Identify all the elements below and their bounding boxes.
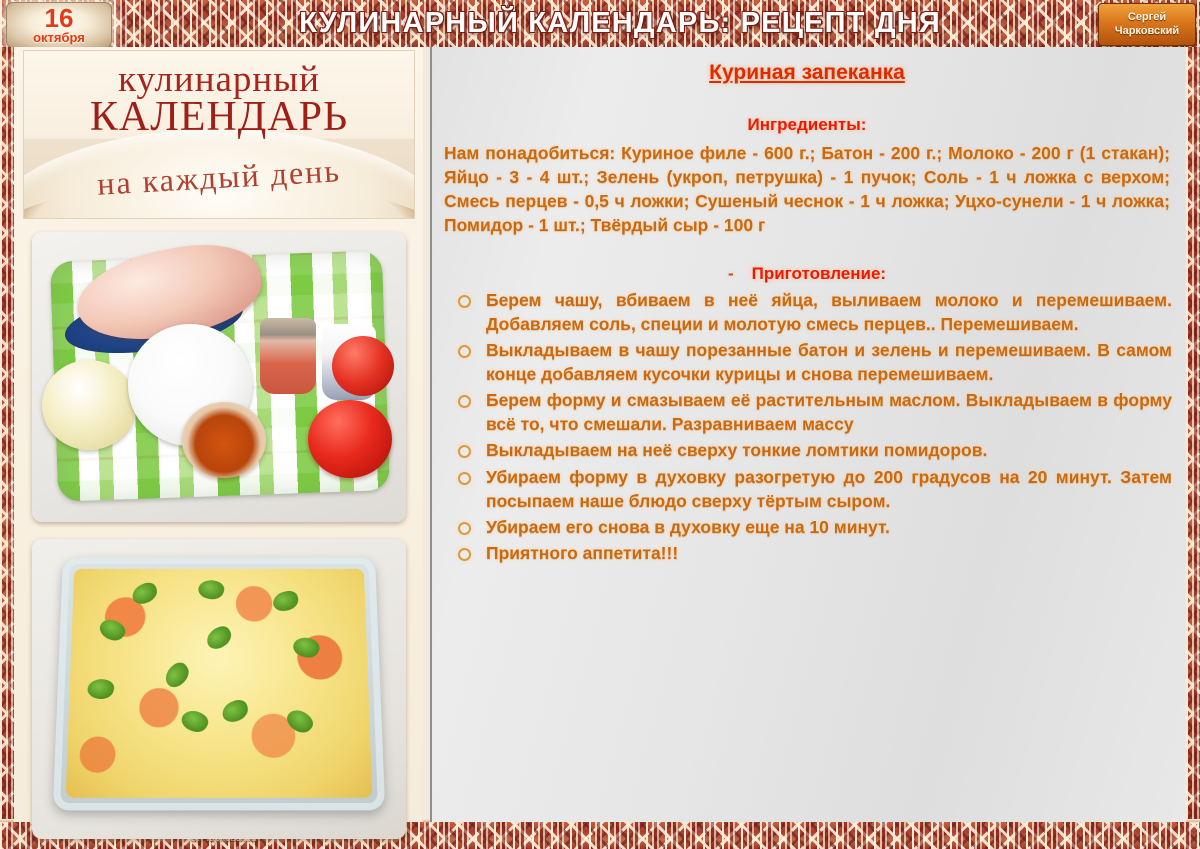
page-title: КУЛИНАРНЫЙ КАЛЕНДАРЬ: РЕЦЕПТ ДНЯ bbox=[0, 0, 1200, 47]
brand-logo: кулинарный КАЛЕНДАРЬ на каждый день bbox=[23, 50, 415, 219]
logo-line-2: КАЛЕНДАРЬ bbox=[24, 96, 414, 138]
right-border-ornament bbox=[1186, 47, 1200, 822]
preparation-dash-bullet: - bbox=[728, 264, 734, 283]
recipe-card: КУЛИНАРНЫЙ КАЛЕНДАРЬ: РЕЦЕПТ ДНЯ 16 октя… bbox=[0, 0, 1200, 849]
step-text: Берем чашу, вбиваем в неё яйца, выливаем… bbox=[486, 290, 1172, 334]
author-first-name: Сергей bbox=[1128, 11, 1166, 25]
author-badge: Сергей Чарковский bbox=[1098, 3, 1196, 46]
glass-baking-dish-icon bbox=[53, 558, 386, 811]
circle-bullet-icon bbox=[458, 522, 471, 535]
preparation-heading-label: Приготовление: bbox=[752, 264, 886, 283]
circle-bullet-icon bbox=[458, 548, 471, 561]
tomato-icon bbox=[308, 400, 392, 478]
list-item: Убираем форму в духовку разогретую до 20… bbox=[442, 465, 1172, 513]
pepper-cup-icon bbox=[260, 318, 316, 394]
step-text: Приятного аппетита!!! bbox=[486, 543, 678, 563]
step-text: Берем форму и смазываем её растительным … bbox=[486, 390, 1172, 434]
step-text: Выкладываем в чашу порезанные батон и зе… bbox=[486, 340, 1172, 384]
recipe-content-panel: Куриная запеканка Ингредиенты: Нам понад… bbox=[430, 47, 1186, 822]
circle-bullet-icon bbox=[458, 445, 471, 458]
list-item: Приятного аппетита!!! bbox=[442, 541, 1172, 565]
list-item: Берем форму и смазываем её растительным … bbox=[442, 388, 1172, 436]
date-month: октября bbox=[33, 31, 85, 45]
list-item: Убираем его снова в духовку еще на 10 ми… bbox=[442, 515, 1172, 539]
date-badge: 16 октября bbox=[6, 2, 112, 47]
header-bar: КУЛИНАРНЫЙ КАЛЕНДАРЬ: РЕЦЕПТ ДНЯ 16 октя… bbox=[0, 0, 1200, 47]
circle-bullet-icon bbox=[458, 395, 471, 408]
dish-photo bbox=[32, 539, 406, 839]
ingredients-photo bbox=[32, 232, 406, 522]
step-text: Убираем форму в духовку разогретую до 20… bbox=[486, 467, 1172, 511]
list-item: Выкладываем на неё сверху тонкие ломтики… bbox=[442, 438, 1172, 462]
logo-line-1: кулинарный bbox=[24, 61, 414, 98]
preparation-steps-list: Берем чашу, вбиваем в неё яйца, выливаем… bbox=[442, 288, 1172, 566]
list-item: Выкладываем в чашу порезанные батон и зе… bbox=[442, 338, 1172, 386]
step-text: Выкладываем на неё сверху тонкие ломтики… bbox=[486, 440, 987, 460]
ingredients-text: Нам понадобиться: Куриное филе - 600 г.;… bbox=[444, 141, 1170, 238]
mayonnaise-jar-icon bbox=[42, 360, 136, 450]
circle-bullet-icon bbox=[458, 472, 471, 485]
recipe-title: Куриная запеканка bbox=[442, 61, 1172, 85]
preparation-heading: -Приготовление: bbox=[442, 264, 1172, 284]
circle-bullet-icon bbox=[458, 345, 471, 358]
date-day: 16 bbox=[45, 6, 74, 31]
left-border-ornament bbox=[0, 47, 14, 822]
list-item: Берем чашу, вбиваем в неё яйца, выливаем… bbox=[442, 288, 1172, 336]
ingredients-heading: Ингредиенты: bbox=[442, 115, 1172, 135]
tomato-small-icon bbox=[332, 336, 394, 396]
circle-bullet-icon bbox=[458, 295, 471, 308]
step-text: Убираем его снова в духовку еще на 10 ми… bbox=[486, 517, 890, 537]
paprika-bowl-icon bbox=[182, 402, 266, 478]
left-column: кулинарный КАЛЕНДАРЬ на каждый день bbox=[14, 47, 423, 822]
author-last-name: Чарковский bbox=[1115, 25, 1179, 39]
